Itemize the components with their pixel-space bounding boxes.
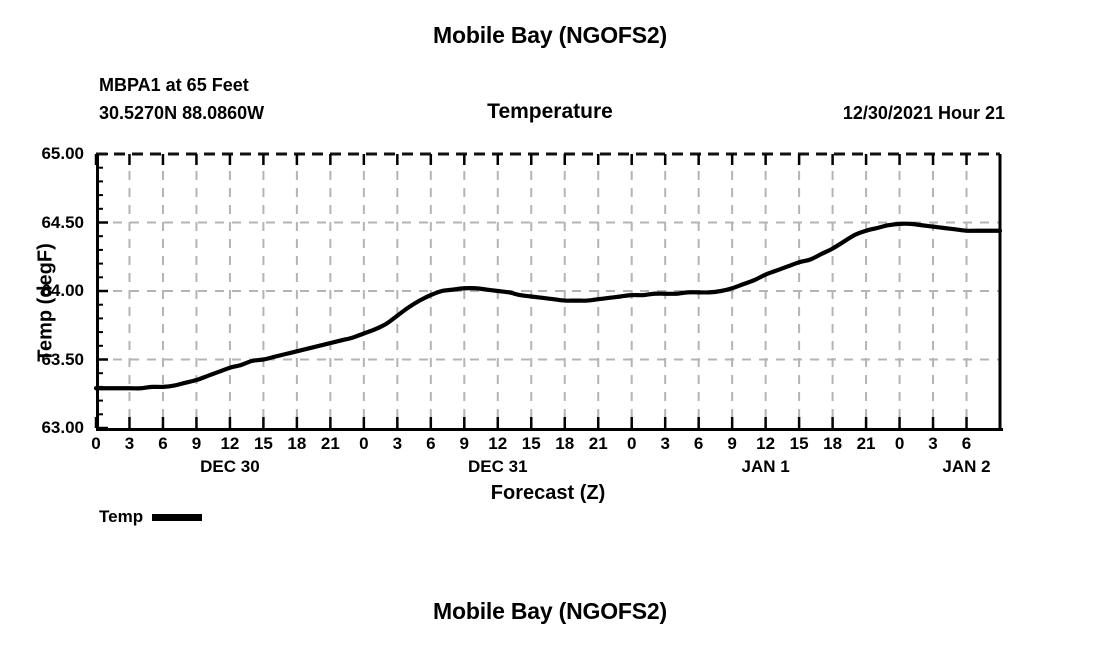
x-tick-label: 3 [393,434,402,454]
plot-top-border [96,154,1000,165]
y-tick-label: 63.00 [41,418,84,438]
x-tick-label: 15 [790,434,809,454]
x-tick-label: 21 [321,434,340,454]
y-tick-label: 64.00 [41,281,84,301]
x-tick-label: 3 [125,434,134,454]
x-tick-label: 15 [254,434,273,454]
horizontal-gridlines [96,223,1000,360]
x-tick-label: 9 [460,434,469,454]
x-day-label: DEC 31 [468,457,528,477]
x-tick-label: 21 [589,434,608,454]
x-tick-label: 3 [928,434,937,454]
x-day-label: JAN 2 [942,457,990,477]
x-tick-label: 0 [91,434,100,454]
x-tick-label: 12 [488,434,507,454]
chart-canvas [96,154,1000,428]
x-tick-label: 0 [895,434,904,454]
model-run-timestamp: 12/30/2021 Hour 21 [843,103,1005,124]
x-tick-label: 12 [756,434,775,454]
legend-swatch-temp [152,514,202,521]
x-tick-label: 6 [158,434,167,454]
x-tick-label: 0 [627,434,636,454]
x-tick-label: 15 [522,434,541,454]
x-tick-label: 0 [359,434,368,454]
x-day-label: DEC 30 [200,457,260,477]
x-tick-label: 12 [220,434,239,454]
footer-title: Mobile Bay (NGOFS2) [0,598,1100,625]
page-title: Mobile Bay (NGOFS2) [0,22,1100,49]
x-tick-label: 9 [727,434,736,454]
x-tick-label: 18 [555,434,574,454]
x-axis-title: Forecast (Z) [96,482,1000,505]
x-tick-label: 18 [287,434,306,454]
x-tick-label: 6 [962,434,971,454]
legend-label-temp: Temp [99,507,143,527]
x-axis-ticks [96,417,1000,428]
y-tick-label: 64.50 [41,213,84,233]
x-tick-label: 9 [192,434,201,454]
station-name-label: MBPA1 at 65 Feet [99,75,249,96]
y-tick-label: 65.00 [41,144,84,164]
chart-legend: Temp [99,507,202,527]
x-tick-label: 3 [660,434,669,454]
x-tick-label: 6 [694,434,703,454]
y-tick-label: 63.50 [41,350,84,370]
x-tick-label: 6 [426,434,435,454]
x-tick-label: 21 [857,434,876,454]
x-day-label: JAN 1 [742,457,790,477]
x-tick-label: 18 [823,434,842,454]
temperature-series-line [96,224,1000,389]
